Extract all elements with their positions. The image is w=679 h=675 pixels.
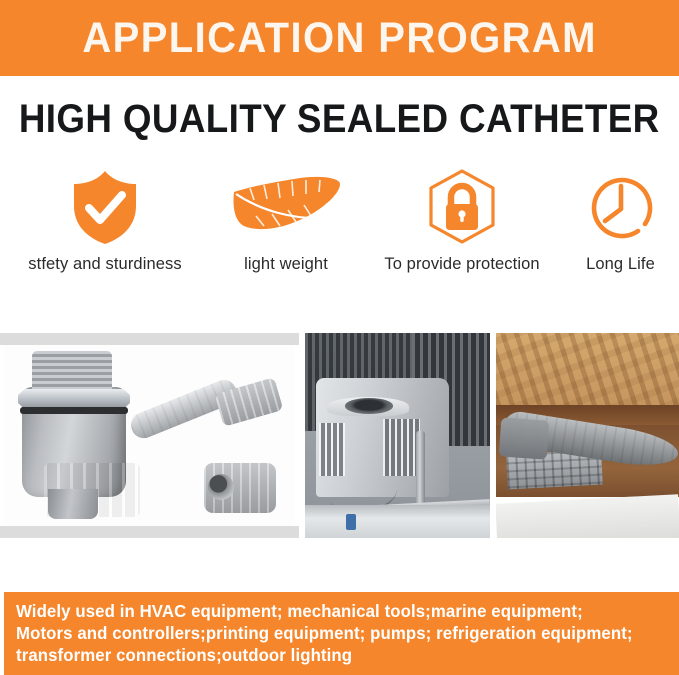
roof-base — [305, 505, 490, 538]
insulation-board — [496, 494, 679, 538]
feature-row: stfety and sturdiness light weight To pr… — [0, 168, 679, 293]
connector-lock-nut — [18, 389, 130, 409]
photo-stage — [4, 345, 295, 526]
photo-frame-bottom — [0, 526, 299, 538]
conduit-connector-end — [498, 417, 548, 459]
connector-ribs — [44, 463, 140, 517]
shield-check-icon — [68, 168, 142, 246]
conduit-installation-photo — [496, 333, 679, 538]
feature-label-long-life: Long Life — [586, 255, 655, 274]
condenser-fan — [345, 398, 393, 413]
footer-line-1: Widely used in HVAC equipment; mechanica… — [16, 600, 647, 622]
footer-line-2: Motors and controllers;printing equipmen… — [16, 622, 647, 644]
osb-sheathing — [496, 333, 679, 405]
connector-o-ring — [20, 407, 128, 414]
feature-label-protection: To provide protection — [384, 255, 539, 274]
blue-fitting — [346, 514, 356, 530]
photo-frame-top — [0, 333, 299, 345]
clock-icon — [582, 168, 660, 246]
photo-strip — [0, 333, 679, 538]
feature-label-light-weight: light weight — [244, 255, 328, 274]
feature-item-long-life: Long Life — [562, 168, 679, 293]
feature-item-light-weight: light weight — [210, 168, 362, 293]
feature-item-safety: stfety and sturdiness — [0, 168, 210, 293]
flexible-conduit-hose — [132, 383, 280, 457]
subtitle-section: HIGH QUALITY SEALED CATHETER — [0, 95, 679, 143]
footer-banner: Widely used in HVAC equipment; mechanica… — [4, 592, 679, 675]
condenser-grill-right — [383, 419, 420, 476]
page-title: APPLICATION PROGRAM — [82, 17, 597, 60]
product-connectors-photo — [0, 333, 299, 538]
hvac-condenser-photo — [305, 333, 490, 538]
feature-item-protection: To provide protection — [362, 168, 562, 293]
subtitle-text: HIGH QUALITY SEALED CATHETER — [19, 99, 660, 139]
condenser-grill-left — [319, 423, 346, 475]
small-connector — [204, 463, 276, 513]
feather-icon — [230, 168, 342, 246]
connector-threads — [32, 351, 112, 393]
feature-label-safety: stfety and sturdiness — [28, 255, 181, 274]
footer-line-3: transformer connections;outdoor lighting — [16, 644, 647, 666]
hexagon-lock-icon — [422, 168, 502, 246]
header-banner: APPLICATION PROGRAM — [0, 0, 679, 76]
